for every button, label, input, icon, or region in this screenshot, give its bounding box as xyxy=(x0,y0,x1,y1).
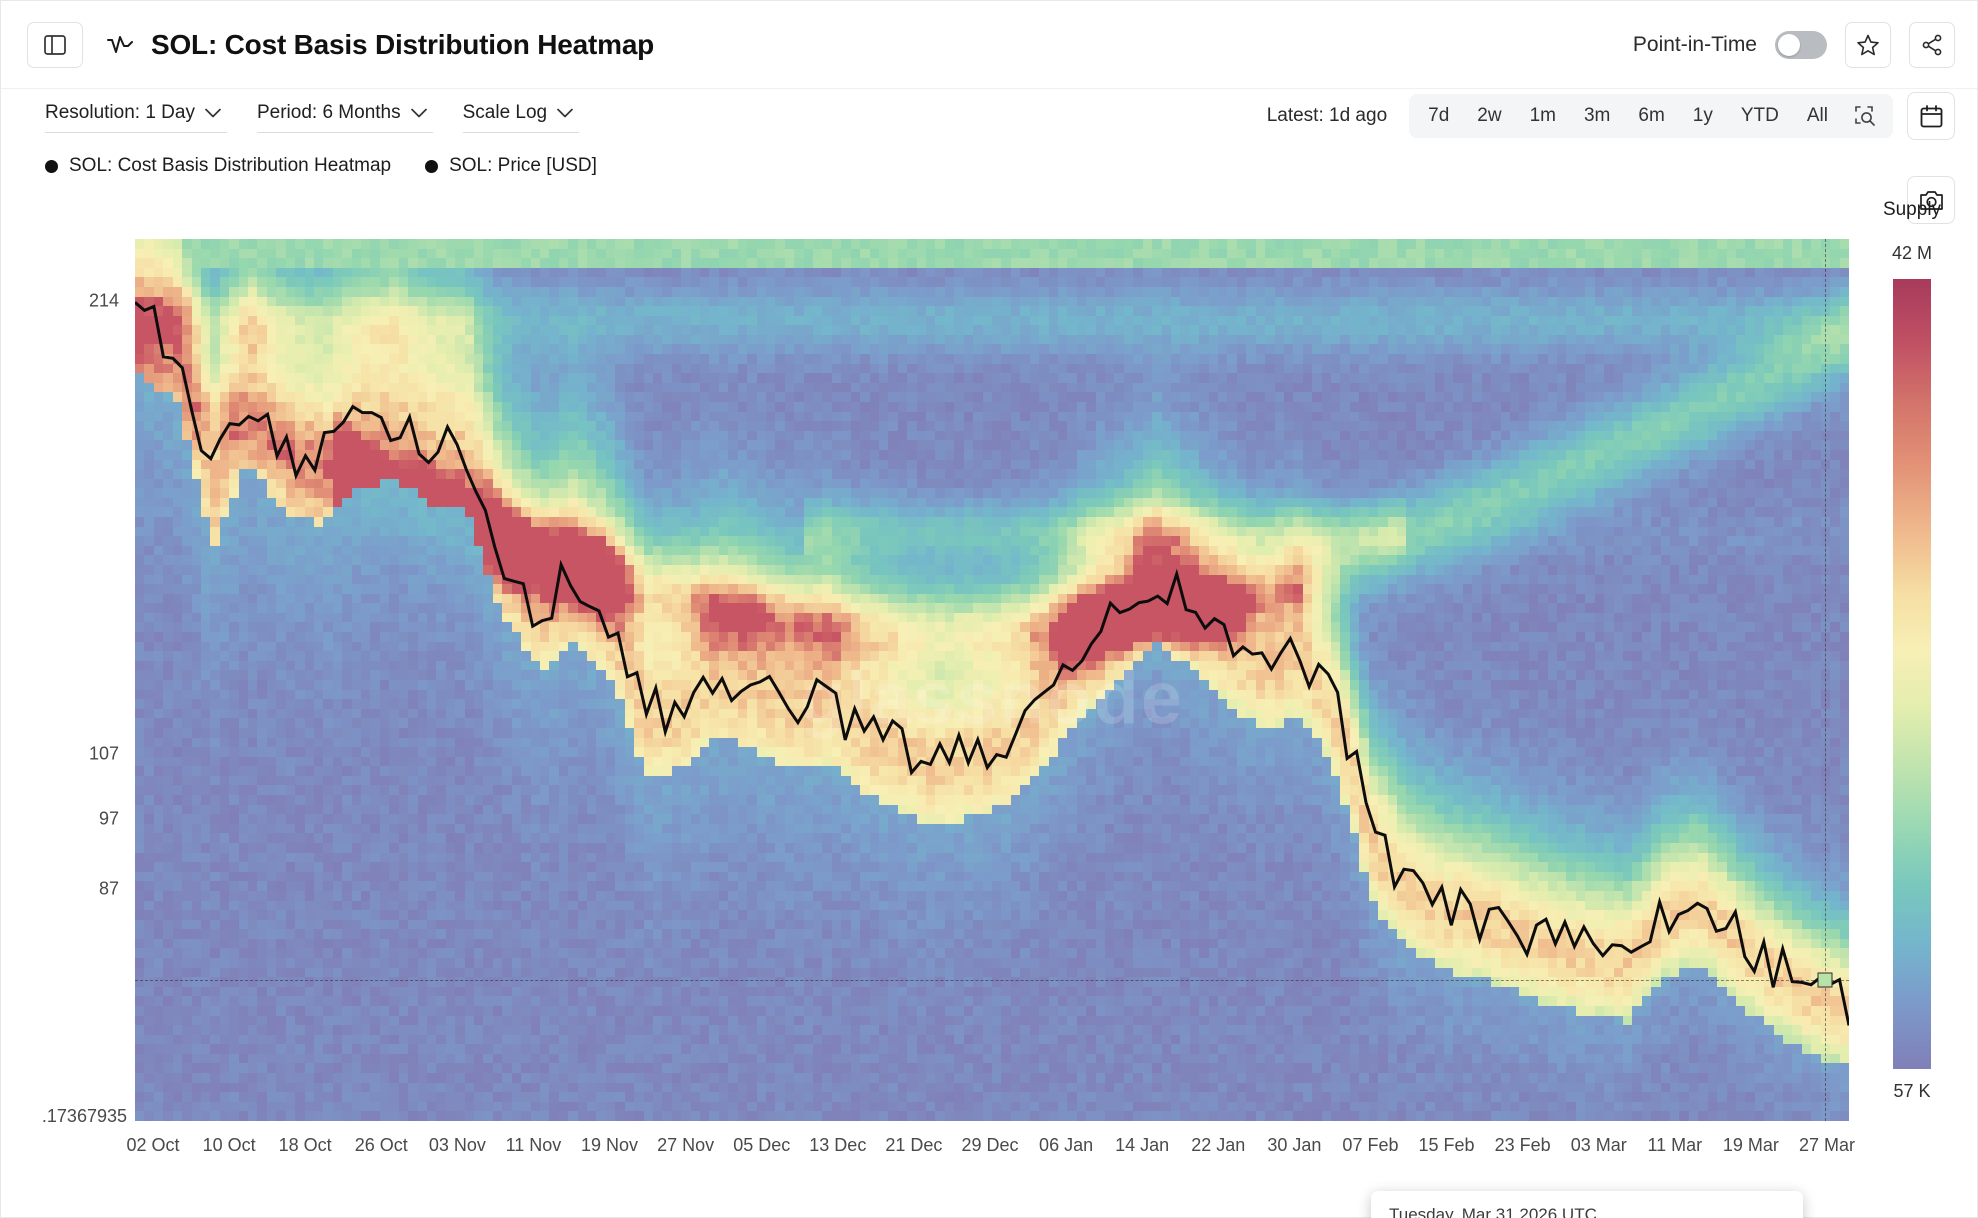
panel-toggle-button[interactable] xyxy=(27,22,83,68)
chevron-down-icon xyxy=(557,108,573,118)
crosshair-vertical xyxy=(1825,239,1826,1121)
x-tick-label: 11 Nov xyxy=(506,1135,562,1156)
range-button-7d[interactable]: 7d xyxy=(1415,98,1462,134)
x-tick-label: 19 Nov xyxy=(581,1135,638,1156)
y-tick-label: 214 xyxy=(89,291,119,312)
range-button-6m[interactable]: 6m xyxy=(1625,98,1677,134)
chevron-down-icon xyxy=(411,108,427,118)
x-tick-label: 10 Oct xyxy=(203,1135,256,1156)
legend-dot-icon xyxy=(425,160,438,173)
calendar-icon xyxy=(1919,104,1944,129)
period-selector[interactable]: Period: 6 Months xyxy=(257,100,433,133)
zoom-select-icon xyxy=(1854,105,1876,127)
x-tick-label: 15 Feb xyxy=(1419,1135,1475,1156)
chart-area: 214 107 97 87 .17367935 glassnode 02 Oct… xyxy=(1,191,1977,1217)
app-header: SOL: Cost Basis Distribution Heatmap Poi… xyxy=(1,1,1977,89)
chart-app: SOL: Cost Basis Distribution Heatmap Poi… xyxy=(0,0,1978,1218)
hover-point-marker xyxy=(1818,973,1833,988)
supply-colorbar: Supply 42 M 57 K xyxy=(1847,191,1977,1181)
heatmap-cells xyxy=(135,239,1849,1121)
favorite-button[interactable] xyxy=(1845,22,1891,68)
colorbar-title: Supply xyxy=(1883,199,1941,221)
scale-label: Scale Log xyxy=(463,102,548,124)
y-tick-label: 87 xyxy=(99,879,119,900)
resolution-label: Resolution: 1 Day xyxy=(45,102,195,124)
colorbar-gradient xyxy=(1893,279,1931,1069)
legend-label: SOL: Price [USD] xyxy=(449,155,597,177)
x-tick-label: 26 Oct xyxy=(355,1135,408,1156)
x-tick-label: 07 Feb xyxy=(1342,1135,1398,1156)
range-button-3m[interactable]: 3m xyxy=(1571,98,1623,134)
x-axis: 02 Oct10 Oct18 Oct26 Oct03 Nov11 Nov19 N… xyxy=(135,1121,1849,1181)
page-title: SOL: Cost Basis Distribution Heatmap xyxy=(151,29,654,61)
y-axis-min-label: .17367935 xyxy=(42,1106,127,1127)
colorbar-max-label: 42 M xyxy=(1892,243,1932,264)
colorbar-min-label: 57 K xyxy=(1893,1081,1930,1102)
x-tick-label: 21 Dec xyxy=(885,1135,942,1156)
range-button-2w[interactable]: 2w xyxy=(1464,98,1514,134)
period-label: Period: 6 Months xyxy=(257,102,401,124)
x-tick-label: 13 Dec xyxy=(809,1135,866,1156)
y-tick-label: 97 xyxy=(99,809,119,830)
x-tick-label: 23 Feb xyxy=(1495,1135,1551,1156)
range-button-1m[interactable]: 1m xyxy=(1517,98,1569,134)
point-in-time-toggle[interactable] xyxy=(1775,31,1827,59)
range-button-ytd[interactable]: YTD xyxy=(1728,98,1792,134)
hover-tooltip: Tuesday, Mar 31 2026 UTC Price: $83.13 C… xyxy=(1371,1191,1803,1218)
panel-toggle-icon xyxy=(44,35,66,55)
share-icon xyxy=(1920,33,1944,57)
x-tick-label: 06 Jan xyxy=(1039,1135,1093,1156)
star-icon xyxy=(1856,33,1880,57)
x-tick-label: 03 Nov xyxy=(429,1135,486,1156)
calendar-button[interactable] xyxy=(1907,92,1955,140)
x-tick-label: 14 Jan xyxy=(1115,1135,1169,1156)
controls-row: Resolution: 1 Day Period: 6 Months Scale… xyxy=(1,89,1977,143)
chevron-down-icon xyxy=(205,108,221,118)
sparkline-icon xyxy=(107,34,133,56)
x-tick-label: 22 Jan xyxy=(1191,1135,1245,1156)
resolution-selector[interactable]: Resolution: 1 Day xyxy=(45,100,227,133)
x-tick-label: 29 Dec xyxy=(961,1135,1018,1156)
y-tick-label: 107 xyxy=(89,744,119,765)
legend-item-heatmap[interactable]: SOL: Cost Basis Distribution Heatmap xyxy=(45,155,391,177)
range-button-1y[interactable]: 1y xyxy=(1680,98,1726,134)
y-axis: 214 107 97 87 .17367935 xyxy=(1,239,135,1121)
legend-item-price[interactable]: SOL: Price [USD] xyxy=(425,155,597,177)
x-tick-label: 27 Nov xyxy=(657,1135,714,1156)
legend-dot-icon xyxy=(45,160,58,173)
share-button[interactable] xyxy=(1909,22,1955,68)
range-button-all[interactable]: All xyxy=(1794,98,1841,134)
x-tick-label: 05 Dec xyxy=(733,1135,790,1156)
x-tick-label: 18 Oct xyxy=(279,1135,332,1156)
x-tick-label: 30 Jan xyxy=(1267,1135,1321,1156)
chart-legend: SOL: Cost Basis Distribution Heatmap SOL… xyxy=(45,143,597,189)
legend-label: SOL: Cost Basis Distribution Heatmap xyxy=(69,155,391,177)
crosshair-horizontal xyxy=(135,980,1849,981)
x-tick-label: 19 Mar xyxy=(1723,1135,1779,1156)
x-tick-label: 11 Mar xyxy=(1647,1135,1702,1156)
zoom-select-button[interactable] xyxy=(1843,98,1887,134)
tooltip-date: Tuesday, Mar 31 2026 UTC xyxy=(1389,1205,1785,1218)
header-actions: Point-in-Time xyxy=(1633,22,1955,68)
scale-selector[interactable]: Scale Log xyxy=(463,100,580,133)
latest-update-label: Latest: 1d ago xyxy=(1267,105,1387,127)
time-range-group: 7d 2w 1m 3m 6m 1y YTD All xyxy=(1409,94,1893,138)
x-tick-label: 03 Mar xyxy=(1571,1135,1627,1156)
heatmap-plot[interactable]: glassnode xyxy=(135,239,1849,1121)
x-tick-label: 02 Oct xyxy=(126,1135,179,1156)
point-in-time-label: Point-in-Time xyxy=(1633,33,1757,57)
toggle-knob xyxy=(1778,34,1800,56)
